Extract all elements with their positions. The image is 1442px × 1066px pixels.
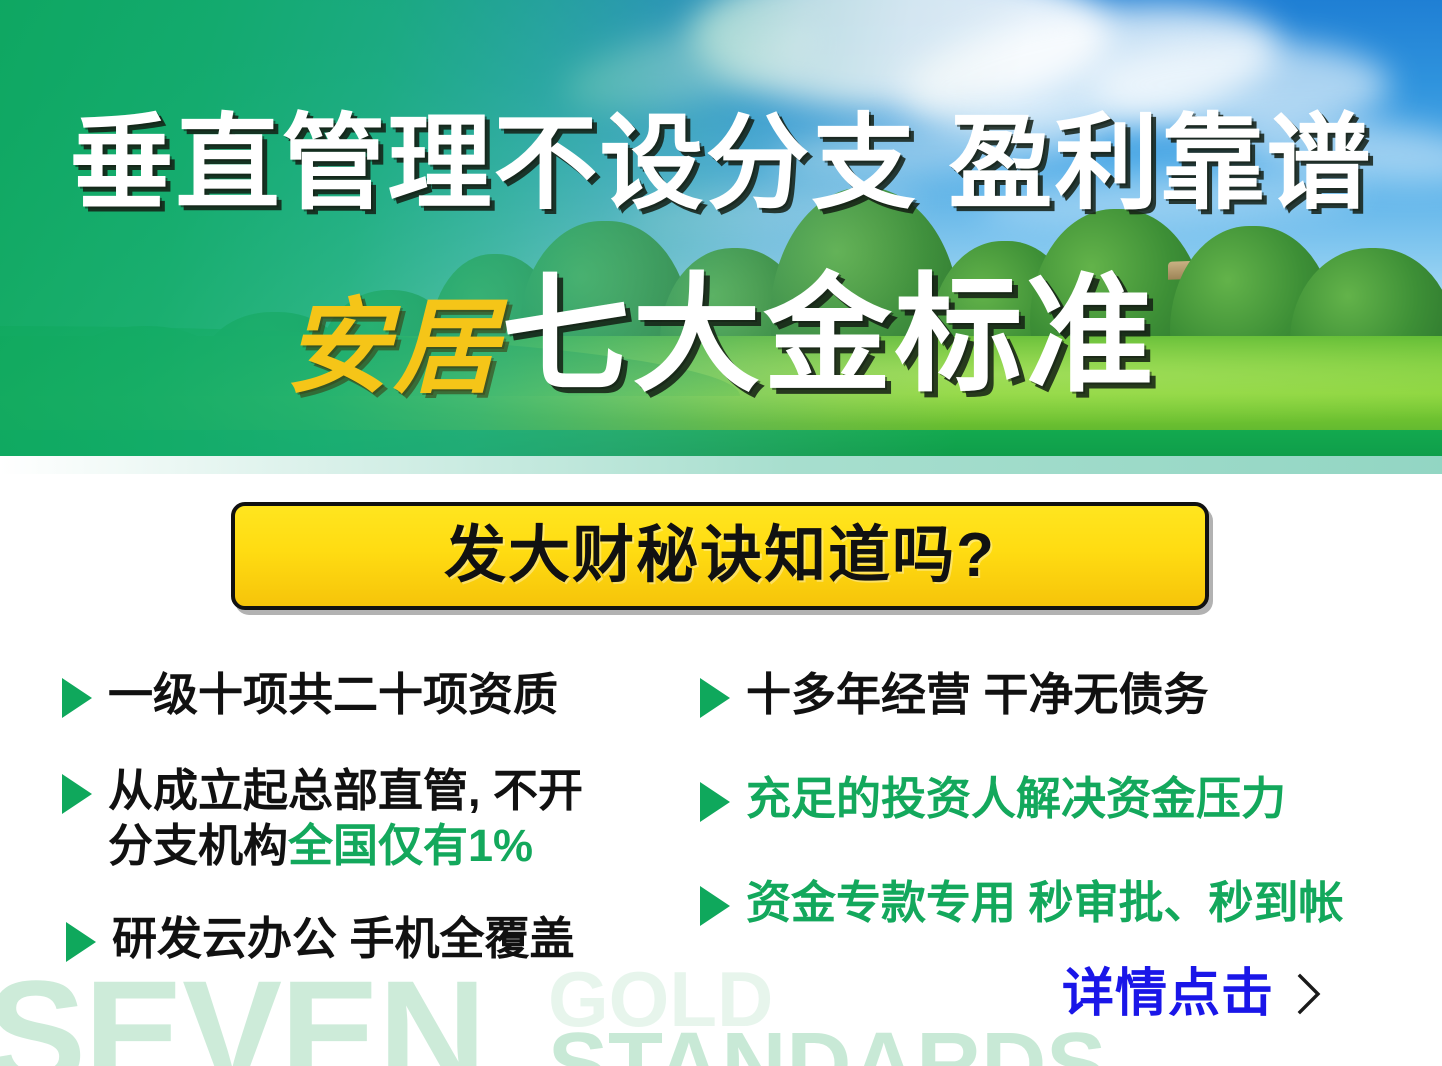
feature-line-1: 一级十项共二十项资质 [108,669,558,720]
brand-prefix-text: 安居 [285,291,501,406]
hero-fade-strip [0,456,1442,474]
feature-text: 从成立起总部直管, 不开 分支机构全国仅有1% [108,764,583,874]
feature-text: 充足的投资人解决资金压力 [746,772,1286,827]
feature-item: 研发云办公 手机全覆盖 [66,912,575,967]
triangle-right-icon [66,922,96,962]
triangle-right-icon [62,678,92,718]
feature-line-1: 资金专款专用 秒审批、秒到帐 [746,877,1344,928]
callout-banner[interactable]: 发大财秘诀知道吗? [231,502,1209,610]
callout-text: 发大财秘诀知道吗? [444,525,996,587]
feature-highlight: 全国仅有1% [288,820,533,871]
hero-banner: 垂直管理不设分支 盈利靠谱 安居七大金标准 [0,0,1442,456]
hero-headline-line2: 安居七大金标准 [0,272,1442,401]
feature-line-1: 充足的投资人解决资金压力 [746,773,1286,824]
feature-line-1: 研发云办公 手机全覆盖 [112,913,575,964]
feature-text: 一级十项共二十项资质 [108,668,558,723]
feature-item: 十多年经营 干净无债务 [700,668,1209,723]
watermark-secondary-bottom-text: STANDARDS [548,1020,1106,1066]
feature-line-1: 从成立起总部直管, 不开 [108,765,583,816]
chevron-right-icon [1296,973,1322,1015]
triangle-right-icon [700,678,730,718]
hero-headline-line1: 垂直管理不设分支 盈利靠谱 [0,112,1442,216]
feature-item: 一级十项共二十项资质 [62,668,558,723]
triangle-right-icon [62,774,92,814]
feature-item: 从成立起总部直管, 不开 分支机构全国仅有1% [62,764,583,874]
promo-banner: 垂直管理不设分支 盈利靠谱 安居七大金标准 发大财秘诀知道吗? 一级十项共二十项… [0,0,1442,1066]
feature-text: 资金专款专用 秒审批、秒到帐 [746,876,1344,931]
details-cta-label: 详情点击 [1062,968,1274,1020]
feature-line-1: 十多年经营 干净无债务 [746,669,1209,720]
triangle-right-icon [700,886,730,926]
details-cta-button[interactable]: 详情点击 [1062,968,1322,1020]
feature-item: 充足的投资人解决资金压力 [700,772,1286,827]
feature-text: 研发云办公 手机全覆盖 [112,912,575,967]
triangle-right-icon [700,782,730,822]
feature-line-2: 分支机构 [108,820,288,871]
hero-headline-main: 七大金标准 [502,264,1157,407]
feature-item: 资金专款专用 秒审批、秒到帐 [700,876,1344,931]
feature-text: 十多年经营 干净无债务 [746,668,1209,723]
features-section: 一级十项共二十项资质 从成立起总部直管, 不开 分支机构全国仅有1% 研发云办公… [0,660,1442,990]
